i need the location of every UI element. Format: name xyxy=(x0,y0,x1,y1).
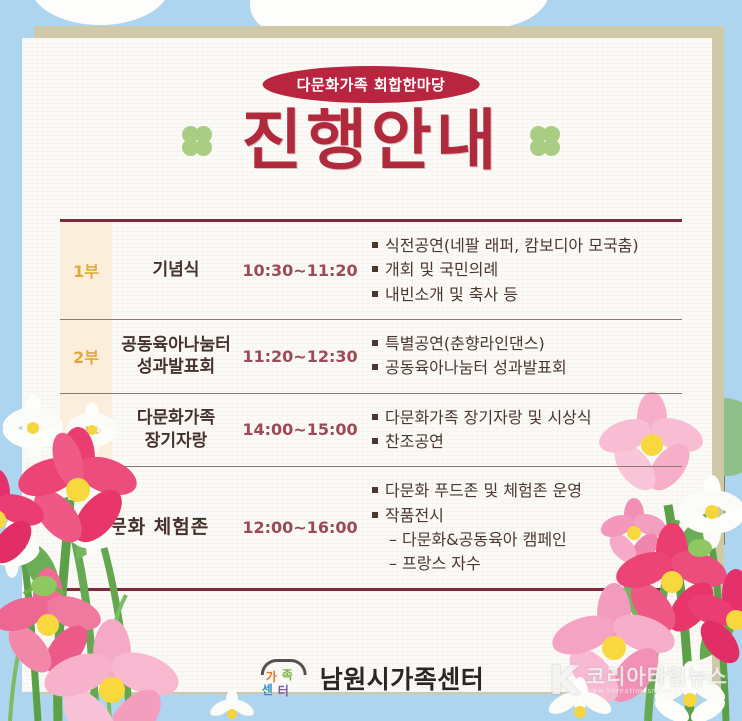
program-details: 식전공연(네팔 래퍼, 캄보디아 모국춤) 개회 및 국민의례 내빈소개 및 축… xyxy=(360,222,682,319)
program-time: 11:20~12:30 xyxy=(240,320,360,393)
clover-ornament-right-icon xyxy=(530,126,560,156)
bullet-square-icon xyxy=(372,340,378,346)
program-details: 특별공연(춘향라인댄스) 공동육아나눔터 성과발표회 xyxy=(360,320,682,393)
watermark-subtitle: www.koreatimesnews.com xyxy=(586,688,728,695)
watermark-text-block: 코리아타임뉴스 www.koreatimesnews.com xyxy=(586,666,728,695)
bullet-square-icon xyxy=(372,438,378,444)
program-details: 다문화 푸드존 및 체험존 운영 작품전시 – 다문화&공동육아 캠페인 – 프… xyxy=(360,467,682,588)
detail-text: 다문화 푸드존 및 체험존 운영 xyxy=(385,479,582,503)
detail-item: 식전공연(네팔 래퍼, 캄보디아 모국춤) xyxy=(372,234,678,258)
detail-item: 다문화가족 장기자랑 및 시상식 xyxy=(372,406,678,430)
detail-text: 프랑스 자수 xyxy=(402,552,481,576)
program-time: 12:00~16:00 xyxy=(240,467,360,588)
table-row: 3부 다문화가족 장기자랑 14:00~15:00 다문화가족 장기자랑 및 시… xyxy=(60,394,682,468)
clover-ornament-left-icon xyxy=(182,126,212,156)
detail-item: 특별공연(춘향라인댄스) xyxy=(372,332,678,356)
part-label: 2부 xyxy=(60,320,112,393)
detail-text: 특별공연(춘향라인댄스) xyxy=(385,332,545,356)
detail-subitem: – 프랑스 자수 xyxy=(372,552,678,576)
watermark-name: 코리아타임뉴스 xyxy=(586,666,728,688)
detail-subitem: – 다문화&공동육아 캠페인 xyxy=(372,528,678,552)
part-label: 1부 xyxy=(60,222,112,319)
program-name-line1: 공동육아나눔터 xyxy=(121,335,230,355)
detail-text: 찬조공연 xyxy=(385,430,444,454)
bullet-square-icon xyxy=(372,242,378,248)
logo-char-sen: 센 xyxy=(262,681,273,698)
detail-item: 공동육아나눔터 성과발표회 xyxy=(372,356,678,380)
poster-root: 다문화가족 회합한마당 진행안내 1부 기념식 10:30~11:20 식전공연… xyxy=(0,0,742,721)
logo-char-jok: 족 xyxy=(282,666,293,683)
schedule-table: 1부 기념식 10:30~11:20 식전공연(네팔 래퍼, 캄보디아 모국춤)… xyxy=(60,219,682,591)
detail-text: 식전공연(네팔 래퍼, 캄보디아 모국춤) xyxy=(385,234,639,258)
cloud-icon xyxy=(30,0,170,25)
detail-item: 내빈소개 및 축사 등 xyxy=(372,283,678,307)
family-center-logo-icon: 가 족 센 터 xyxy=(258,657,310,699)
program-name: 다문화가족 장기자랑 xyxy=(112,394,240,467)
bullet-square-icon xyxy=(372,364,378,370)
detail-text: 공동육아나눔터 성과발표회 xyxy=(385,356,567,380)
program-name-line2: 장기자랑 xyxy=(145,431,208,451)
news-watermark: K 코리아타임뉴스 www.koreatimesnews.com xyxy=(549,661,728,701)
detail-item: 작품전시 xyxy=(372,504,678,528)
program-name-line1: 다문화가족 xyxy=(137,408,215,428)
detail-text: 개회 및 국민의례 xyxy=(385,258,498,282)
detail-text: 다문화가족 장기자랑 및 시상식 xyxy=(385,406,592,430)
dash-icon: – xyxy=(389,552,397,576)
event-badge: 다문화가족 회합한마당 xyxy=(263,66,480,103)
program-details: 다문화가족 장기자랑 및 시상식 찬조공연 xyxy=(360,394,682,467)
logo-char-teo: 터 xyxy=(278,682,289,699)
organization-brand: 가 족 센 터 남원시가족센터 xyxy=(258,657,485,699)
page-title: 진행안내 xyxy=(242,108,501,174)
organization-name: 남원시가족센터 xyxy=(320,660,485,696)
detail-text: 내빈소개 및 축사 등 xyxy=(385,283,518,307)
detail-text: 다문화&공동육아 캠페인 xyxy=(402,528,567,552)
program-time: 10:30~11:20 xyxy=(240,222,360,319)
table-row: 다문화 체험존 12:00~16:00 다문화 푸드존 및 체험존 운영 작품전… xyxy=(60,467,682,588)
program-name: 공동육아나눔터 성과발표회 xyxy=(112,320,240,393)
program-name: 기념식 xyxy=(112,222,240,319)
detail-text: 작품전시 xyxy=(385,504,444,528)
part-label: 3부 xyxy=(60,394,112,467)
watermark-k-logo-icon: K xyxy=(549,661,580,701)
table-row: 2부 공동육아나눔터 성과발표회 11:20~12:30 특별공연(춘향라인댄스… xyxy=(60,320,682,394)
bullet-square-icon xyxy=(372,291,378,297)
dash-icon: – xyxy=(389,528,397,552)
title-row: 진행안내 xyxy=(0,108,742,174)
bullet-square-icon xyxy=(372,512,378,518)
program-name: 다문화 체험존 xyxy=(60,467,240,588)
detail-item: 다문화 푸드존 및 체험존 운영 xyxy=(372,479,678,503)
bullet-square-icon xyxy=(372,487,378,493)
detail-item: 개회 및 국민의례 xyxy=(372,258,678,282)
detail-item: 찬조공연 xyxy=(372,430,678,454)
program-name-line2: 성과발표회 xyxy=(137,357,215,377)
table-row: 1부 기념식 10:30~11:20 식전공연(네팔 래퍼, 캄보디아 모국춤)… xyxy=(60,222,682,320)
bullet-square-icon xyxy=(372,266,378,272)
program-time: 14:00~15:00 xyxy=(240,394,360,467)
bullet-square-icon xyxy=(372,414,378,420)
